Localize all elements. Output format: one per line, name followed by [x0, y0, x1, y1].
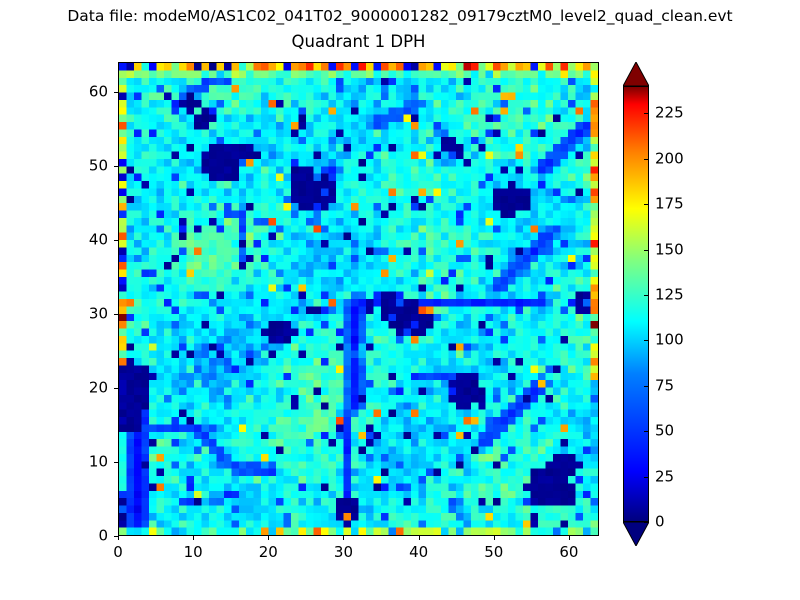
- colorbar-tick-label: 75: [655, 378, 674, 393]
- detector-heatmap-image[interactable]: [119, 63, 598, 535]
- x-tick-mark: [494, 536, 495, 540]
- colorbar-tick-label: 50: [655, 424, 674, 439]
- colorbar-tick-label: 100: [655, 333, 684, 348]
- x-tick-label: 10: [184, 545, 203, 560]
- x-tick-label: 0: [113, 545, 123, 560]
- colorbar-tick-mark: [644, 113, 649, 114]
- x-tick-mark: [343, 536, 344, 540]
- colorbar-tick-mark: [644, 477, 649, 478]
- x-tick-mark: [193, 536, 194, 540]
- y-tick-mark: [114, 536, 118, 537]
- colorbar-tick-label: 175: [655, 197, 684, 212]
- y-tick-label: 20: [72, 380, 108, 395]
- y-tick-label: 30: [72, 306, 108, 321]
- x-tick-label: 60: [559, 545, 578, 560]
- y-tick-mark: [114, 240, 118, 241]
- y-tick-label: 60: [72, 84, 108, 99]
- y-tick-label: 40: [72, 232, 108, 247]
- y-tick-mark: [114, 314, 118, 315]
- colorbar-tick-label: 150: [655, 242, 684, 257]
- colorbar-tick-mark: [644, 340, 649, 341]
- colorbar-over-arrow-icon: [623, 62, 649, 86]
- y-tick-mark: [114, 166, 118, 167]
- x-tick-mark: [268, 536, 269, 540]
- y-tick-mark: [114, 92, 118, 93]
- colorbar-tick-mark: [644, 159, 649, 160]
- x-tick-label: 50: [484, 545, 503, 560]
- colorbar-tick-label: 225: [655, 106, 684, 121]
- colorbar[interactable]: [623, 62, 649, 546]
- y-tick-label: 0: [72, 529, 108, 544]
- x-tick-mark: [569, 536, 570, 540]
- chart-title: Quadrant 1 DPH: [118, 31, 599, 53]
- y-tick-mark: [114, 388, 118, 389]
- x-tick-mark: [118, 536, 119, 540]
- y-tick-label: 10: [72, 454, 108, 469]
- colorbar-under-arrow-icon: [623, 522, 649, 546]
- y-tick-mark: [114, 462, 118, 463]
- colorbar-gradient: [623, 86, 649, 522]
- x-tick-label: 30: [334, 545, 353, 560]
- y-tick-label: 50: [72, 158, 108, 173]
- x-tick-mark: [419, 536, 420, 540]
- colorbar-tick-mark: [644, 386, 649, 387]
- colorbar-tick-mark: [644, 295, 649, 296]
- colorbar-tick-mark: [644, 250, 649, 251]
- data-file-label: Data file: modeM0/AS1C02_041T02_90000012…: [0, 6, 800, 26]
- heatmap-axes[interactable]: [118, 62, 599, 536]
- colorbar-tick-mark: [644, 522, 649, 523]
- x-tick-label: 40: [409, 545, 428, 560]
- colorbar-tick-label: 200: [655, 151, 684, 166]
- colorbar-tick-label: 125: [655, 287, 684, 302]
- colorbar-tick-mark: [644, 431, 649, 432]
- x-tick-label: 20: [259, 545, 278, 560]
- colorbar-tick-mark: [644, 204, 649, 205]
- colorbar-tick-label: 25: [655, 469, 674, 484]
- colorbar-tick-label: 0: [655, 515, 665, 530]
